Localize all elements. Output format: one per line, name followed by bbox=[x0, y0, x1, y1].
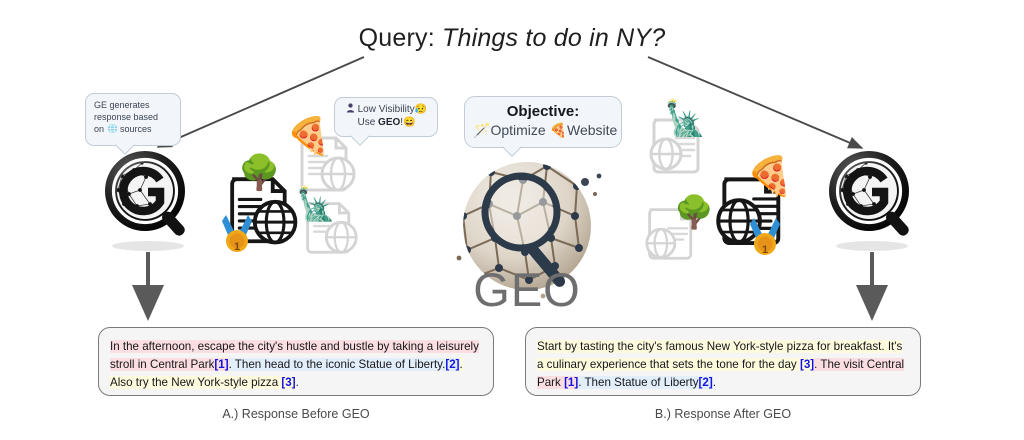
seg-6: . bbox=[296, 376, 299, 389]
bubble-ge-sources-line3-pre: on bbox=[94, 124, 104, 134]
caption-response-before: A.) Response Before GEO bbox=[96, 407, 496, 421]
pizza-emoji-objective: 🍕 bbox=[550, 122, 567, 138]
globe-icon bbox=[107, 123, 118, 138]
seg-6: . bbox=[713, 376, 716, 389]
objective-target: Website bbox=[567, 122, 617, 138]
pizza-emoji-right: 🍕 bbox=[746, 158, 793, 196]
response-before-text: In the afternoon, escape the city's hust… bbox=[110, 340, 479, 389]
citation-3[interactable]: [3] bbox=[281, 376, 295, 389]
bubble-ge-sources-line2: response based bbox=[94, 112, 173, 124]
query-label: Query: bbox=[359, 24, 435, 52]
bubble-ge-sources-line1: GE generates bbox=[94, 100, 173, 112]
generative-engine-logo-left bbox=[96, 146, 204, 254]
query-headline: Query: Things to do in NY? bbox=[0, 24, 1024, 53]
pizza-emoji-left: 🍕 bbox=[286, 118, 331, 154]
bubble-ge-sources-line3: on sources bbox=[94, 123, 173, 138]
bubble-low-visibility-use: Use bbox=[357, 117, 375, 128]
rank-medal-number-right: 1 bbox=[748, 218, 782, 256]
citation-2[interactable]: [2] bbox=[445, 358, 459, 371]
person-silhouette-icon bbox=[346, 104, 358, 115]
query-text: Things to do in NY? bbox=[442, 24, 665, 52]
bubble-ge-sources: GE generates response based on sources bbox=[85, 93, 181, 146]
generative-engine-logo-right bbox=[820, 146, 928, 254]
citation-1[interactable]: [1] bbox=[214, 358, 228, 371]
tree-emoji-left: 🌳 bbox=[238, 156, 280, 190]
objective-subtitle: 🪄Optimize 🍕Website bbox=[473, 121, 613, 139]
citation-2[interactable]: [2] bbox=[699, 376, 713, 389]
bubble-low-visibility: Low Visibility😥 Use GEO!😄 bbox=[334, 97, 438, 137]
seg-4: . Then Statue of Liberty bbox=[578, 376, 698, 389]
objective-action: Optimize bbox=[490, 122, 545, 138]
diagram-canvas: Query: Things to do in NY? GE generates … bbox=[0, 0, 1024, 440]
bubble-objective: Objective: 🪄Optimize 🍕Website bbox=[464, 96, 622, 148]
geo-logo-label: GEO bbox=[473, 263, 580, 316]
objective-title: Objective: bbox=[473, 103, 613, 121]
response-card-before: In the afternoon, escape the city's hust… bbox=[98, 327, 494, 396]
bubble-low-visibility-geo: GEO bbox=[378, 117, 400, 128]
happy-emoji: 😄 bbox=[403, 117, 415, 128]
response-card-after: Start by tasting the city's famous New Y… bbox=[525, 327, 921, 396]
bubble-low-visibility-line2: Use GEO!😄 bbox=[342, 117, 431, 130]
rank-medal-number-left: 1 bbox=[220, 215, 254, 253]
sad-emoji: 😥 bbox=[415, 104, 427, 115]
caption-response-after: B.) Response After GEO bbox=[523, 407, 923, 421]
bubble-low-visibility-line1: Low Visibility😥 bbox=[342, 103, 431, 117]
seg-2: . Then head to the iconic Statue of Libe… bbox=[229, 358, 446, 371]
bubble-ge-sources-line3-post: sources bbox=[120, 124, 152, 134]
citation-3[interactable]: [3] bbox=[800, 358, 814, 371]
geo-logo-center: GEO bbox=[443, 146, 621, 316]
tree-emoji-right: 🌳 bbox=[674, 196, 714, 228]
icon-cluster-right: 🗽 🌳 bbox=[640, 100, 800, 260]
magic-wand-emoji: 🪄 bbox=[473, 122, 490, 138]
citation-1[interactable]: [1] bbox=[564, 376, 578, 389]
statue-of-liberty-emoji-right: 🗽 bbox=[664, 102, 706, 136]
response-after-text: Start by tasting the city's famous New Y… bbox=[537, 340, 904, 389]
bubble-low-visibility-text1: Low Visibility bbox=[358, 104, 415, 115]
